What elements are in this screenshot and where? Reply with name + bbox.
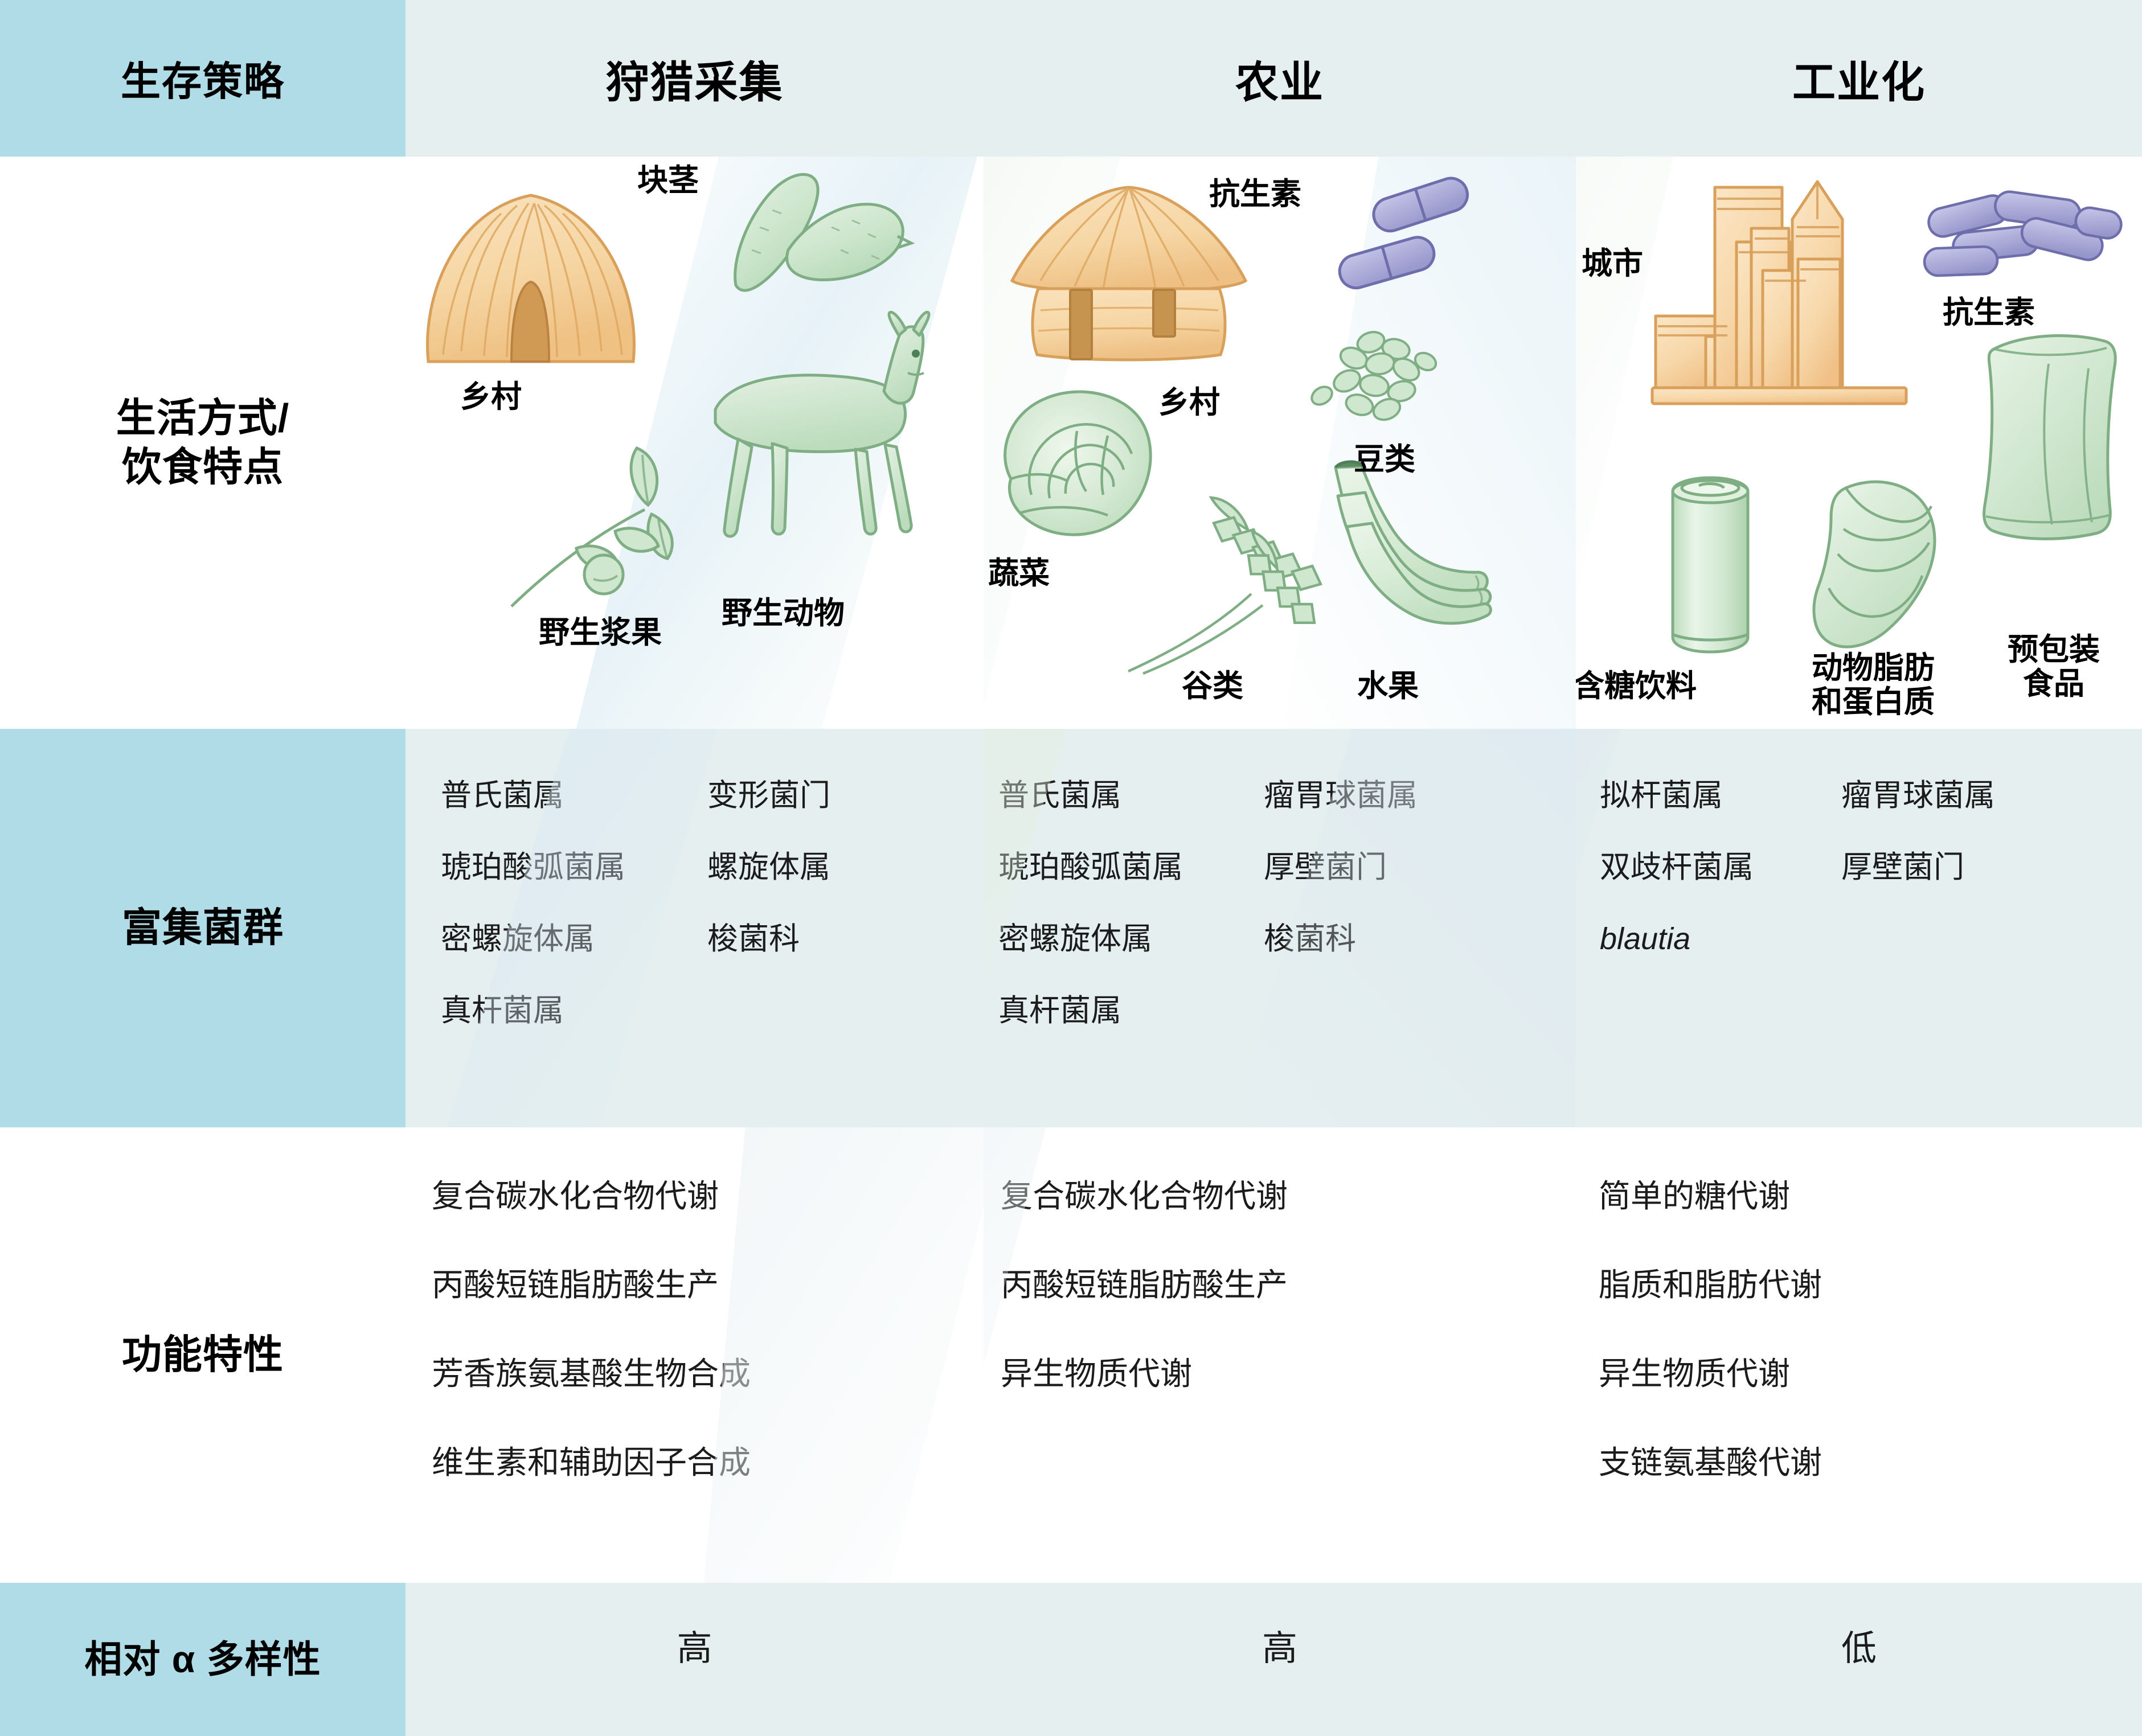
hunter-label-tubers: 块茎 xyxy=(637,163,699,198)
taxon-item: 密螺旋体属 xyxy=(441,924,625,954)
functional-cell-agriculture: 复合碳水化合物代谢 丙酸短链脂肪酸生产 异生物质代谢 xyxy=(984,1127,1576,1583)
industrial-label-animal-fat-protein: 动物脂肪 和蛋白质 xyxy=(1776,651,1970,720)
hunter-label-village: 乡村 xyxy=(460,380,522,414)
header-column-agriculture: 农业 xyxy=(984,0,1576,157)
taxon-item: 普氏菌属 xyxy=(998,780,1183,811)
hunter-label-wild-berries: 野生浆果 xyxy=(539,615,662,650)
lifestyle-cell-agriculture: 乡村 xyxy=(984,157,1576,729)
functional-item: 简单的糖代谢 xyxy=(1599,1171,1790,1217)
taxon-item: 密螺旋体属 xyxy=(998,924,1183,954)
taxon-item: 变形菌门 xyxy=(707,780,830,811)
legumes-icon xyxy=(1312,326,1443,440)
microbiome-cell-industrial: 拟杆菌属 双歧杆菌属 blautia 瘤胃球菌属 厚壁菌门 xyxy=(1576,729,2142,1127)
functional-item: 芳香族氨基酸生物合成 xyxy=(432,1348,751,1394)
taxon-item: 拟杆菌属 xyxy=(1600,780,1754,811)
taxon-item: 双歧杆菌属 xyxy=(1600,852,1754,883)
industrial-label-city: 城市 xyxy=(1582,247,1643,281)
agriculture-label-village: 乡村 xyxy=(1158,385,1220,420)
city-icon xyxy=(1651,174,1907,407)
microbiome-industrial-col1: 拟杆菌属 双歧杆菌属 blautia xyxy=(1600,780,1754,954)
industrial-label-packaged-food-line2: 食品 xyxy=(1971,667,2136,701)
functional-item: 丙酸短链脂肪酸生产 xyxy=(1001,1259,1288,1306)
taxon-item: 螺旋体属 xyxy=(707,852,830,883)
functional-cell-hunter: 复合碳水化合物代谢 丙酸短链脂肪酸生产 芳香族氨基酸生物合成 维生素和辅助因子合… xyxy=(406,1127,984,1583)
grains-icon xyxy=(1120,473,1314,678)
functional-item: 复合碳水化合物代谢 xyxy=(432,1171,719,1217)
functional-item: 异生物质代谢 xyxy=(1599,1348,1790,1394)
row-label-enriched-microbiota: 富集菌群 xyxy=(0,729,406,1127)
row-label-lifestyle-line2: 饮食特点 xyxy=(116,443,289,491)
industrial-label-animal-fat-protein-line2: 和蛋白质 xyxy=(1776,685,1970,719)
header-column-industrial: 工业化 xyxy=(1576,0,2142,157)
header-column-hunter-gatherer: 狩猎采集 xyxy=(406,0,984,157)
microbiome-hunter-col2: 变形菌门 螺旋体属 梭菌科 xyxy=(707,780,830,954)
row-label-lifestyle-diet: 生活方式/ 饮食特点 xyxy=(0,157,406,729)
alpha-value-agriculture: 高 xyxy=(984,1583,1576,1736)
microbiome-agriculture-col1: 普氏菌属 琥珀酸弧菌属 密螺旋体属 真杆菌属 xyxy=(998,780,1183,1026)
taxon-item: 梭菌科 xyxy=(707,924,830,954)
microbiome-cell-agriculture: 普氏菌属 琥珀酸弧菌属 密螺旋体属 真杆菌属 瘤胃球菌属 厚壁菌门 梭菌科 xyxy=(984,729,1576,1127)
taxon-item: 瘤胃球菌属 xyxy=(1841,780,1995,811)
functional-item: 异生物质代谢 xyxy=(1001,1348,1192,1394)
hut-icon xyxy=(417,180,645,368)
agriculture-label-grains: 谷类 xyxy=(1182,669,1243,703)
wild-animals-icon xyxy=(696,311,935,551)
microbiome-agriculture-col2: 瘤胃球菌属 厚壁菌门 梭菌科 xyxy=(1264,780,1418,954)
row-label-functional-features: 功能特性 xyxy=(0,1127,406,1583)
taxon-item: 厚壁菌门 xyxy=(1264,852,1418,883)
packaged-food-icon xyxy=(1975,329,2128,551)
agriculture-label-legumes: 豆类 xyxy=(1354,442,1415,477)
functional-item: 脂质和脂肪代谢 xyxy=(1599,1259,1822,1306)
microbiome-cell-hunter: 普氏菌属 琥珀酸弧菌属 密螺旋体属 真杆菌属 变形菌门 螺旋体属 梭菌科 xyxy=(406,729,984,1127)
wild-berries-icon xyxy=(497,418,690,618)
taxon-item: 厚壁菌门 xyxy=(1841,852,1995,883)
hunter-label-wild-animals: 野生动物 xyxy=(722,596,845,630)
functional-item: 维生素和辅助因子合成 xyxy=(432,1437,751,1483)
infographic-root: 各乐健康 生存策略 狩猎采集 农业 工业化 生活方式/ 饮食特点 xyxy=(0,0,2142,1736)
sugary-drinks-icon xyxy=(1657,471,1765,659)
alpha-value-hunter: 高 xyxy=(406,1583,984,1736)
industrial-label-sugary-drinks: 含糖饮料 xyxy=(1576,669,1697,703)
microbiome-industrial-col2: 瘤胃球菌属 厚壁菌门 xyxy=(1841,780,1995,883)
agriculture-label-vegetables: 蔬菜 xyxy=(988,556,1050,590)
taxon-item: 琥珀酸弧菌属 xyxy=(998,852,1183,883)
functional-item: 支链氨基酸代谢 xyxy=(1599,1437,1822,1483)
microbiome-hunter-col1: 普氏菌属 琥珀酸弧菌属 密螺旋体属 真杆菌属 xyxy=(441,780,625,1026)
antibiotics-icon xyxy=(1915,184,2126,303)
taxon-item: 梭菌科 xyxy=(1264,924,1418,954)
industrial-label-animal-fat-protein-line1: 动物脂肪 xyxy=(1776,651,1970,685)
taxon-item: 瘤胃球菌属 xyxy=(1264,780,1418,811)
functional-item: 丙酸短链脂肪酸生产 xyxy=(432,1259,719,1306)
row-label-relative-alpha-diversity: 相对 α 多样性 xyxy=(0,1583,406,1736)
header-label-survival-strategy: 生存策略 xyxy=(0,0,406,157)
lifestyle-cell-hunter: 乡村 xyxy=(406,157,984,729)
antibiotics-icon xyxy=(1331,184,1479,292)
agriculture-label-antibiotics: 抗生素 xyxy=(1209,177,1301,211)
industrial-label-packaged-food-line1: 预包装 xyxy=(1971,633,2136,667)
taxon-item: 琥珀酸弧菌属 xyxy=(441,852,625,883)
taxon-item: 普氏菌属 xyxy=(441,780,625,811)
comparison-table: 生存策略 狩猎采集 农业 工业化 生活方式/ 饮食特点 xyxy=(0,0,2142,1736)
taxon-item: blautia xyxy=(1600,924,1754,954)
alpha-value-industrial: 低 xyxy=(1576,1583,2142,1736)
fruits-icon xyxy=(1313,464,1506,635)
animal-fat-protein-icon xyxy=(1804,474,1969,662)
taxon-item: 真杆菌属 xyxy=(441,995,625,1026)
functional-item: 复合碳水化合物代谢 xyxy=(1001,1171,1288,1217)
agriculture-label-fruits: 水果 xyxy=(1357,669,1419,703)
industrial-label-antibiotics: 抗生素 xyxy=(1943,296,2035,330)
tubers-icon xyxy=(724,165,912,313)
lifestyle-cell-industrial: 城市 xyxy=(1576,157,2142,729)
industrial-label-packaged-food: 预包装 食品 xyxy=(1971,633,2136,701)
taxon-item: 真杆菌属 xyxy=(998,995,1183,1026)
functional-cell-industrial: 简单的糖代谢 脂质和脂肪代谢 异生物质代谢 支链氨基酸代谢 xyxy=(1576,1127,2142,1583)
row-label-lifestyle-line1: 生活方式/ xyxy=(116,394,289,442)
